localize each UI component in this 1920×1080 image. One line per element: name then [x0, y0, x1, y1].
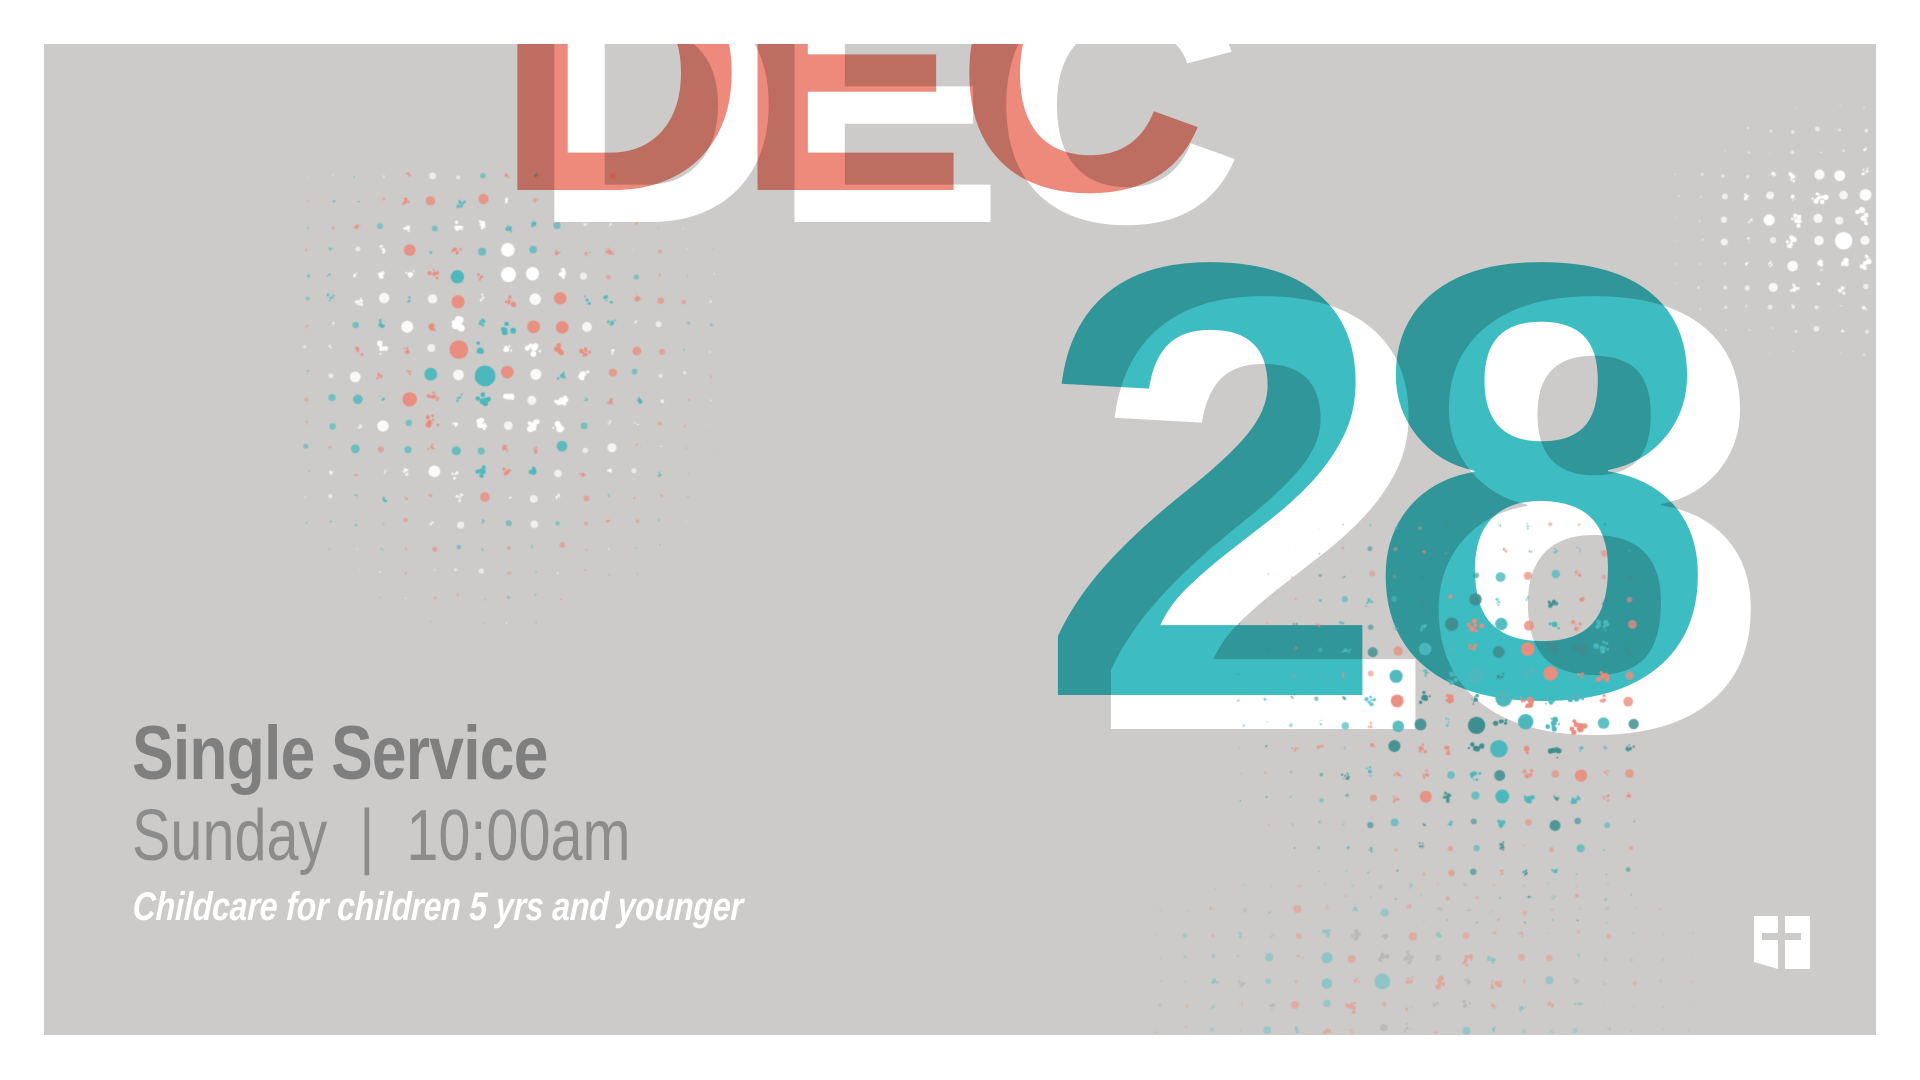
halftone-bottom-icon	[1144, 874, 1704, 1035]
childcare-note: Childcare for children 5 yrs and younger	[132, 887, 934, 927]
copy-block: Single Service Sunday | 10:00am Childcar…	[132, 716, 1132, 927]
day-label: 28	[1036, 240, 1695, 724]
service-time: Sunday | 10:00am	[132, 800, 932, 873]
grey-panel: DEC DEC 28 28 Single Service Sunday | 10…	[44, 44, 1876, 1035]
cross-book-icon	[1754, 913, 1810, 977]
page-title: Single Service	[132, 716, 952, 792]
church-cross-logo	[1754, 913, 1810, 977]
announcement-graphic: DEC DEC 28 28 Single Service Sunday | 10…	[0, 0, 1920, 1080]
